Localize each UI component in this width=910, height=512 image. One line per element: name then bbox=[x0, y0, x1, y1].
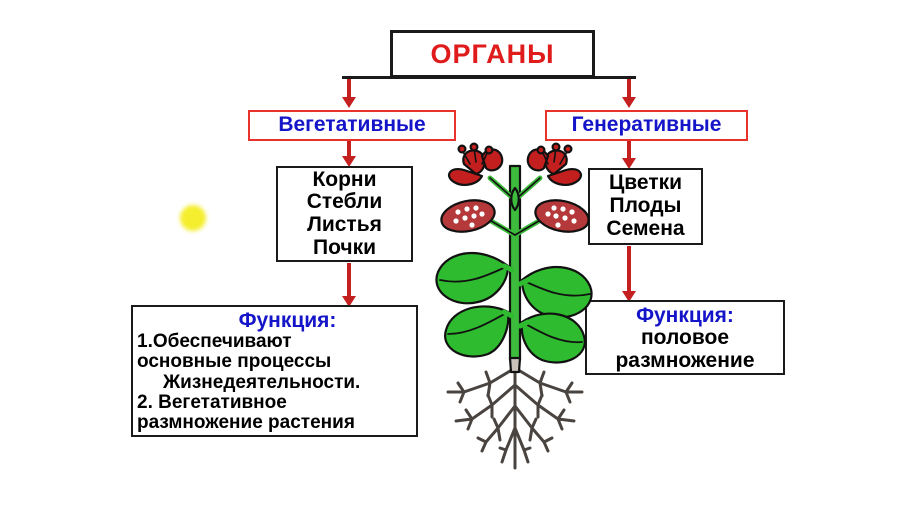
organ-item: Стебли bbox=[307, 191, 383, 214]
function-box-vegetative: Функция: 1.Обеспечивают основные процесс… bbox=[131, 305, 418, 437]
arrow-organs-to-function bbox=[342, 263, 356, 307]
organ-item: Листья bbox=[307, 214, 382, 237]
organ-item: Семена bbox=[606, 218, 684, 241]
function-line: Жизнедеятельности. bbox=[137, 373, 360, 393]
title-box-label: ОРГАНЫ bbox=[430, 40, 554, 69]
function-line: размножение растения bbox=[137, 413, 355, 433]
organ-item: Корни bbox=[312, 169, 376, 192]
diagram-canvas: ОРГАНЫ Вегетативные Генеративные Корни С… bbox=[0, 0, 910, 512]
function-line: 2. Вегетативное bbox=[137, 393, 287, 413]
connector-line-top bbox=[342, 76, 636, 79]
arrow-vegetative-to-organs bbox=[342, 141, 356, 167]
function-line: 1.Обеспечивают bbox=[137, 332, 292, 352]
title-box-organy: ОРГАНЫ bbox=[390, 30, 595, 78]
yellow-dot-decoration bbox=[180, 205, 206, 231]
function-heading: Функция: bbox=[636, 305, 734, 327]
category-box-vegetative: Вегетативные bbox=[248, 110, 456, 141]
function-line: половое bbox=[641, 327, 729, 349]
function-line: размножение bbox=[615, 350, 754, 372]
category-label-generative: Генеративные bbox=[572, 114, 722, 136]
bud bbox=[511, 188, 519, 210]
function-line: основные процессы bbox=[137, 352, 331, 372]
function-heading: Функция: bbox=[239, 310, 337, 332]
organ-item: Плоды bbox=[610, 195, 682, 218]
category-label-vegetative: Вегетативные bbox=[278, 114, 425, 136]
plant-illustration bbox=[420, 140, 610, 485]
function-box-generative: Функция: половое размножение bbox=[585, 300, 785, 375]
arrow-generative-to-organs bbox=[622, 141, 636, 169]
organ-item: Почки bbox=[313, 237, 376, 260]
organ-list-vegetative: Корни Стебли Листья Почки bbox=[276, 166, 413, 262]
roots-group bbox=[448, 358, 582, 468]
arrow-generative-organs-to-function bbox=[622, 246, 636, 302]
arrow-organy-to-vegetative bbox=[342, 78, 356, 108]
category-box-generative: Генеративные bbox=[545, 110, 748, 141]
arrow-organy-to-generative bbox=[622, 78, 636, 108]
organ-item: Цветки bbox=[609, 172, 682, 195]
